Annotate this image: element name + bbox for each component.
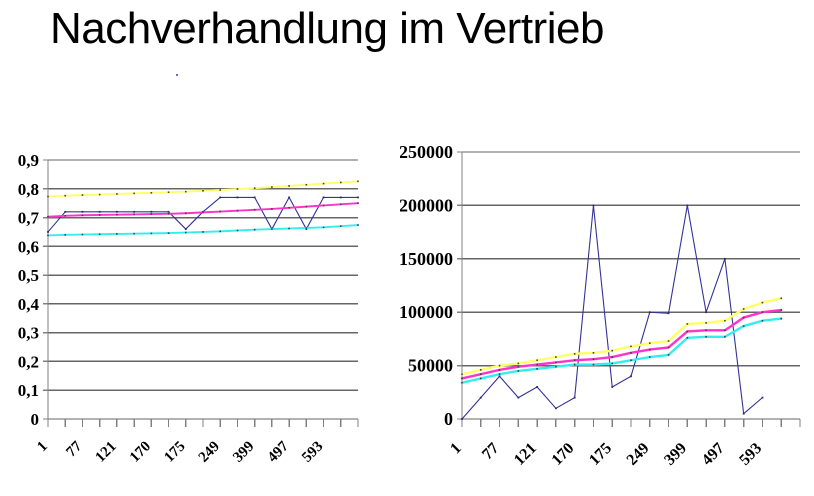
data-point-marker — [461, 373, 463, 375]
data-point-marker — [518, 370, 520, 372]
x-tick-label: 1 — [34, 439, 51, 456]
data-point-marker — [82, 194, 84, 196]
data-point-marker — [461, 382, 463, 384]
data-point-marker — [357, 202, 359, 204]
data-point-marker — [536, 364, 538, 366]
data-point-marker — [219, 211, 221, 213]
data-point-marker — [116, 211, 118, 213]
x-tick-label: 593 — [299, 439, 326, 466]
data-point-marker — [64, 195, 66, 197]
data-point-marker — [555, 362, 557, 364]
data-point-marker — [288, 228, 290, 230]
data-point-marker — [202, 190, 204, 192]
data-point-marker — [668, 340, 670, 342]
series-line-magenta — [48, 203, 358, 217]
data-point-marker — [499, 365, 501, 367]
data-point-marker — [536, 368, 538, 370]
y-tick-label: 0,1 — [18, 381, 39, 400]
data-point-marker — [555, 356, 557, 358]
data-point-marker — [611, 363, 613, 365]
data-point-marker — [340, 225, 342, 227]
data-point-marker — [47, 196, 49, 198]
data-point-marker — [271, 228, 273, 230]
data-point-marker — [357, 180, 359, 182]
data-point-marker — [237, 197, 239, 199]
data-point-marker — [202, 212, 204, 214]
data-point-marker — [133, 193, 135, 195]
data-point-marker — [237, 188, 239, 190]
data-point-marker — [668, 347, 670, 349]
data-point-marker — [499, 373, 501, 375]
data-point-marker — [340, 197, 342, 199]
data-point-marker — [133, 214, 135, 216]
data-point-marker — [116, 214, 118, 216]
y-tick-label: 50000 — [408, 356, 453, 376]
data-point-marker — [743, 325, 745, 327]
data-point-marker — [611, 356, 613, 358]
x-tick-label: 249 — [624, 440, 653, 469]
data-point-marker — [340, 204, 342, 206]
data-point-marker — [254, 187, 256, 189]
data-point-marker — [288, 185, 290, 187]
data-point-marker — [133, 233, 135, 235]
data-point-marker — [168, 191, 170, 193]
stray-dot-marker — [176, 74, 178, 76]
data-point-marker — [762, 311, 764, 313]
data-point-marker — [724, 330, 726, 332]
data-point-marker — [705, 336, 707, 338]
data-point-marker — [574, 397, 576, 399]
data-point-marker — [649, 356, 651, 358]
x-tick-label: 121 — [511, 440, 540, 469]
data-point-marker — [323, 197, 325, 199]
data-point-marker — [555, 407, 557, 409]
data-point-marker — [219, 231, 221, 233]
data-point-marker — [687, 337, 689, 339]
y-tick-label: 150000 — [400, 249, 453, 269]
data-point-marker — [480, 373, 482, 375]
y-tick-label: 0,9 — [18, 151, 39, 170]
data-point-marker — [649, 311, 651, 313]
x-tick-label: 1 — [447, 440, 465, 458]
data-point-marker — [185, 228, 187, 230]
data-point-marker — [499, 375, 501, 377]
y-tick-label: 0,4 — [18, 295, 40, 314]
y-tick-label: 0,8 — [18, 180, 39, 199]
data-point-marker — [705, 330, 707, 332]
data-point-marker — [687, 323, 689, 325]
data-point-marker — [518, 366, 520, 368]
data-point-marker — [306, 184, 308, 186]
x-tick-label: 77 — [479, 440, 502, 463]
data-point-marker — [649, 342, 651, 344]
series-line-cyan — [48, 225, 358, 235]
x-tick-label: 497 — [699, 440, 728, 469]
data-point-marker — [780, 298, 782, 300]
data-point-marker — [357, 197, 359, 199]
data-point-marker — [82, 211, 84, 213]
data-point-marker — [237, 210, 239, 212]
data-point-marker — [593, 364, 595, 366]
data-point-marker — [168, 213, 170, 215]
data-point-marker — [306, 227, 308, 229]
y-tick-label: 0,5 — [18, 266, 39, 285]
data-point-marker — [64, 234, 66, 236]
data-point-marker — [151, 233, 153, 235]
data-point-marker — [686, 205, 688, 207]
data-point-marker — [185, 212, 187, 214]
data-point-marker — [630, 359, 632, 361]
data-point-marker — [150, 211, 152, 213]
x-tick-label: 170 — [127, 439, 154, 466]
data-point-marker — [219, 189, 221, 191]
data-point-marker — [47, 216, 49, 218]
data-point-marker — [254, 229, 256, 231]
slide-canvas: Nachverhandlung im Vertrieb 0,90,80,70,6… — [0, 0, 814, 496]
data-point-marker — [536, 386, 538, 388]
data-point-marker — [555, 366, 557, 368]
data-point-marker — [724, 258, 726, 260]
y-tick-label: 200000 — [400, 195, 453, 215]
y-tick-label: 0,3 — [18, 324, 39, 343]
data-point-marker — [517, 397, 519, 399]
data-point-marker — [574, 359, 576, 361]
data-point-marker — [323, 183, 325, 185]
y-tick-label: 0,6 — [18, 237, 39, 256]
data-point-marker — [630, 352, 632, 354]
data-point-marker — [536, 359, 538, 361]
data-point-marker — [593, 358, 595, 360]
data-point-marker — [687, 331, 689, 333]
data-point-marker — [323, 227, 325, 229]
data-point-marker — [47, 235, 49, 237]
data-point-marker — [254, 197, 256, 199]
data-point-marker — [762, 320, 764, 322]
data-point-marker — [724, 320, 726, 322]
data-point-marker — [99, 233, 101, 235]
data-point-marker — [574, 364, 576, 366]
data-point-marker — [323, 205, 325, 207]
data-point-marker — [99, 211, 101, 213]
data-point-marker — [743, 317, 745, 319]
data-point-marker — [593, 205, 595, 207]
data-point-marker — [185, 191, 187, 193]
x-tick-label: 249 — [196, 439, 223, 466]
data-point-marker — [668, 354, 670, 356]
right-line-chart[interactable]: 2500002000001500001000005000001771211701… — [400, 135, 814, 496]
series-line-magenta — [462, 310, 781, 378]
data-point-marker — [461, 418, 463, 420]
x-tick-label: 497 — [265, 438, 293, 466]
data-point-marker — [649, 349, 651, 351]
y-tick-label: 0 — [31, 410, 40, 429]
x-tick-label: 170 — [549, 440, 578, 469]
data-point-marker — [271, 186, 273, 188]
data-point-marker — [630, 375, 632, 377]
data-point-marker — [254, 209, 256, 211]
data-point-marker — [480, 378, 482, 380]
data-point-marker — [288, 197, 290, 199]
data-point-marker — [480, 369, 482, 371]
data-point-marker — [133, 211, 135, 213]
data-point-marker — [288, 207, 290, 209]
x-tick-label: 175 — [161, 439, 188, 466]
data-point-marker — [64, 215, 66, 217]
data-point-marker — [82, 234, 84, 236]
y-tick-label: 250000 — [400, 142, 453, 162]
data-point-marker — [668, 312, 670, 314]
data-point-marker — [574, 353, 576, 355]
data-point-marker — [743, 308, 745, 310]
data-point-marker — [340, 182, 342, 184]
x-tick-label: 399 — [230, 439, 257, 466]
data-point-marker — [151, 192, 153, 194]
left-line-chart[interactable]: 0,90,80,70,60,50,40,30,20,10177121170175… — [0, 140, 400, 496]
data-point-marker — [611, 386, 613, 388]
data-point-marker — [743, 413, 745, 415]
data-point-marker — [82, 214, 84, 216]
data-point-marker — [202, 231, 204, 233]
data-point-marker — [237, 230, 239, 232]
data-point-marker — [168, 211, 170, 213]
x-tick-label: 175 — [586, 440, 615, 469]
data-point-marker — [306, 206, 308, 208]
data-point-marker — [116, 233, 118, 235]
x-tick-label: 593 — [736, 440, 765, 469]
data-point-marker — [705, 322, 707, 324]
data-point-marker — [357, 224, 359, 226]
data-point-marker — [99, 214, 101, 216]
data-point-marker — [780, 309, 782, 311]
data-point-marker — [271, 208, 273, 210]
data-point-marker — [151, 213, 153, 215]
data-point-marker — [219, 197, 221, 199]
data-point-marker — [185, 232, 187, 234]
data-point-marker — [99, 194, 101, 196]
page-title: Nachverhandlung im Vertrieb — [50, 4, 604, 54]
data-point-marker — [762, 397, 764, 399]
x-tick-label: 121 — [92, 439, 119, 466]
x-tick-label: 77 — [63, 438, 85, 460]
data-point-marker — [168, 232, 170, 234]
data-point-marker — [630, 346, 632, 348]
data-point-marker — [593, 352, 595, 354]
data-point-marker — [461, 378, 463, 380]
data-point-marker — [116, 193, 118, 195]
data-point-marker — [480, 397, 482, 399]
y-tick-label: 0,2 — [18, 352, 39, 371]
y-tick-label: 100000 — [400, 302, 453, 322]
data-point-marker — [611, 350, 613, 352]
y-tick-label: 0 — [444, 409, 453, 429]
data-point-marker — [47, 231, 49, 233]
data-point-marker — [64, 211, 66, 213]
data-point-marker — [518, 363, 520, 365]
x-tick-label: 399 — [661, 440, 690, 469]
data-point-marker — [499, 369, 501, 371]
data-point-marker — [780, 318, 782, 320]
data-point-marker — [762, 302, 764, 304]
data-point-marker — [705, 311, 707, 313]
y-tick-label: 0,7 — [18, 209, 40, 228]
data-point-marker — [724, 336, 726, 338]
